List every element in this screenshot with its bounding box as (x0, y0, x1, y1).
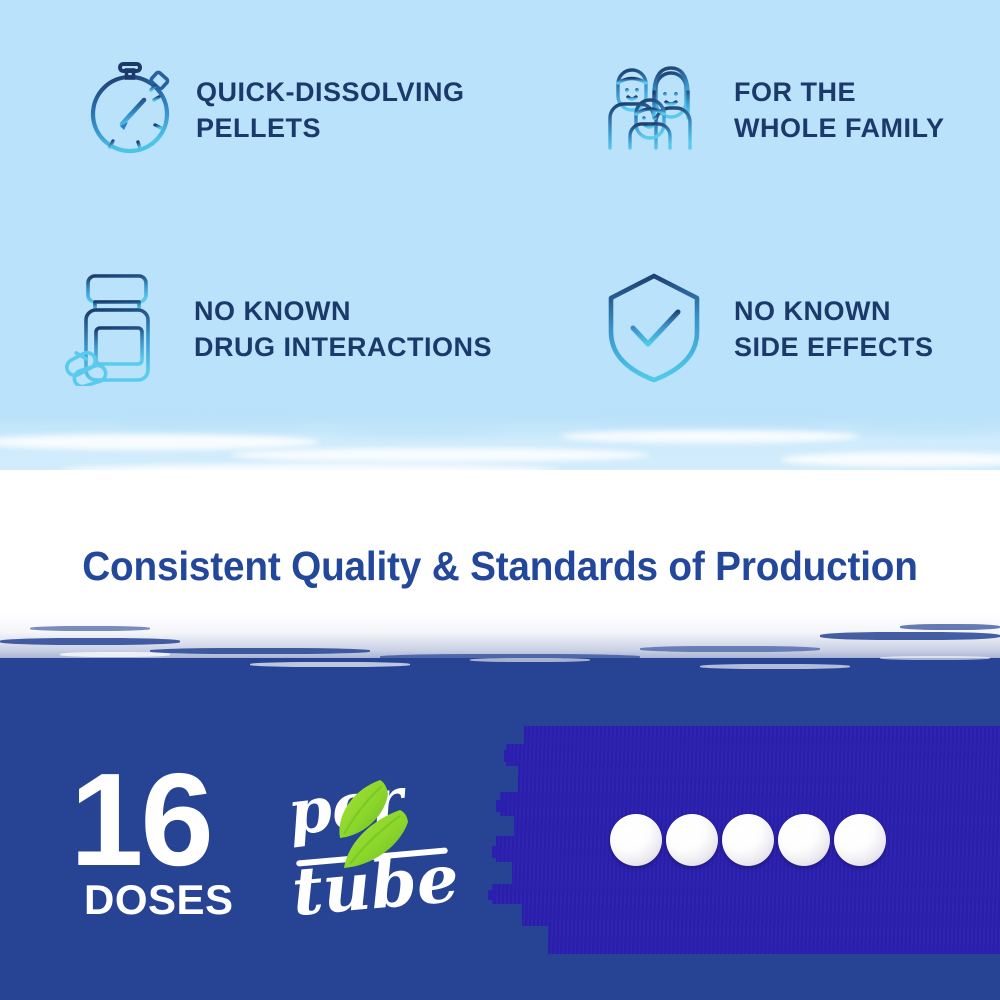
product-infographic: QUICK-DISSOLVING PELLETS (0, 0, 1000, 1000)
feature-for-the-whole-family: FOR THE WHOLE FAMILY (596, 52, 945, 169)
feature-label: FOR THE WHOLE FAMILY (734, 75, 945, 145)
pellet (778, 814, 830, 866)
pellet-patch (478, 726, 1000, 954)
pellet (610, 814, 662, 866)
page-headline: Consistent Quality & Standards of Produc… (28, 543, 973, 590)
pellet (834, 814, 886, 866)
feature-label: NO KNOWN DRUG INTERACTIONS (194, 294, 492, 364)
doses-label: DOSES (84, 879, 234, 921)
shield-check-icon (600, 268, 708, 391)
feature-no-known-drug-interactions: NO KNOWN DRUG INTERACTIONS (62, 268, 492, 391)
feature-label: NO KNOWN SIDE EFFECTS (734, 294, 934, 364)
feature-no-known-side-effects: NO KNOWN SIDE EFFECTS (600, 268, 934, 391)
feature-quick-dissolving-pellets: QUICK-DISSOLVING PELLETS (62, 52, 465, 169)
features-section: QUICK-DISSOLVING PELLETS (0, 0, 1000, 470)
pellet (722, 814, 774, 866)
feature-label: QUICK-DISSOLVING PELLETS (196, 75, 465, 145)
family-icon (596, 52, 708, 169)
stopwatch-icon (62, 52, 174, 169)
pill-bottle-icon (62, 268, 172, 391)
mint-leaves-icon (322, 776, 418, 884)
pellet (666, 814, 718, 866)
doses-count: 16 (70, 754, 211, 886)
